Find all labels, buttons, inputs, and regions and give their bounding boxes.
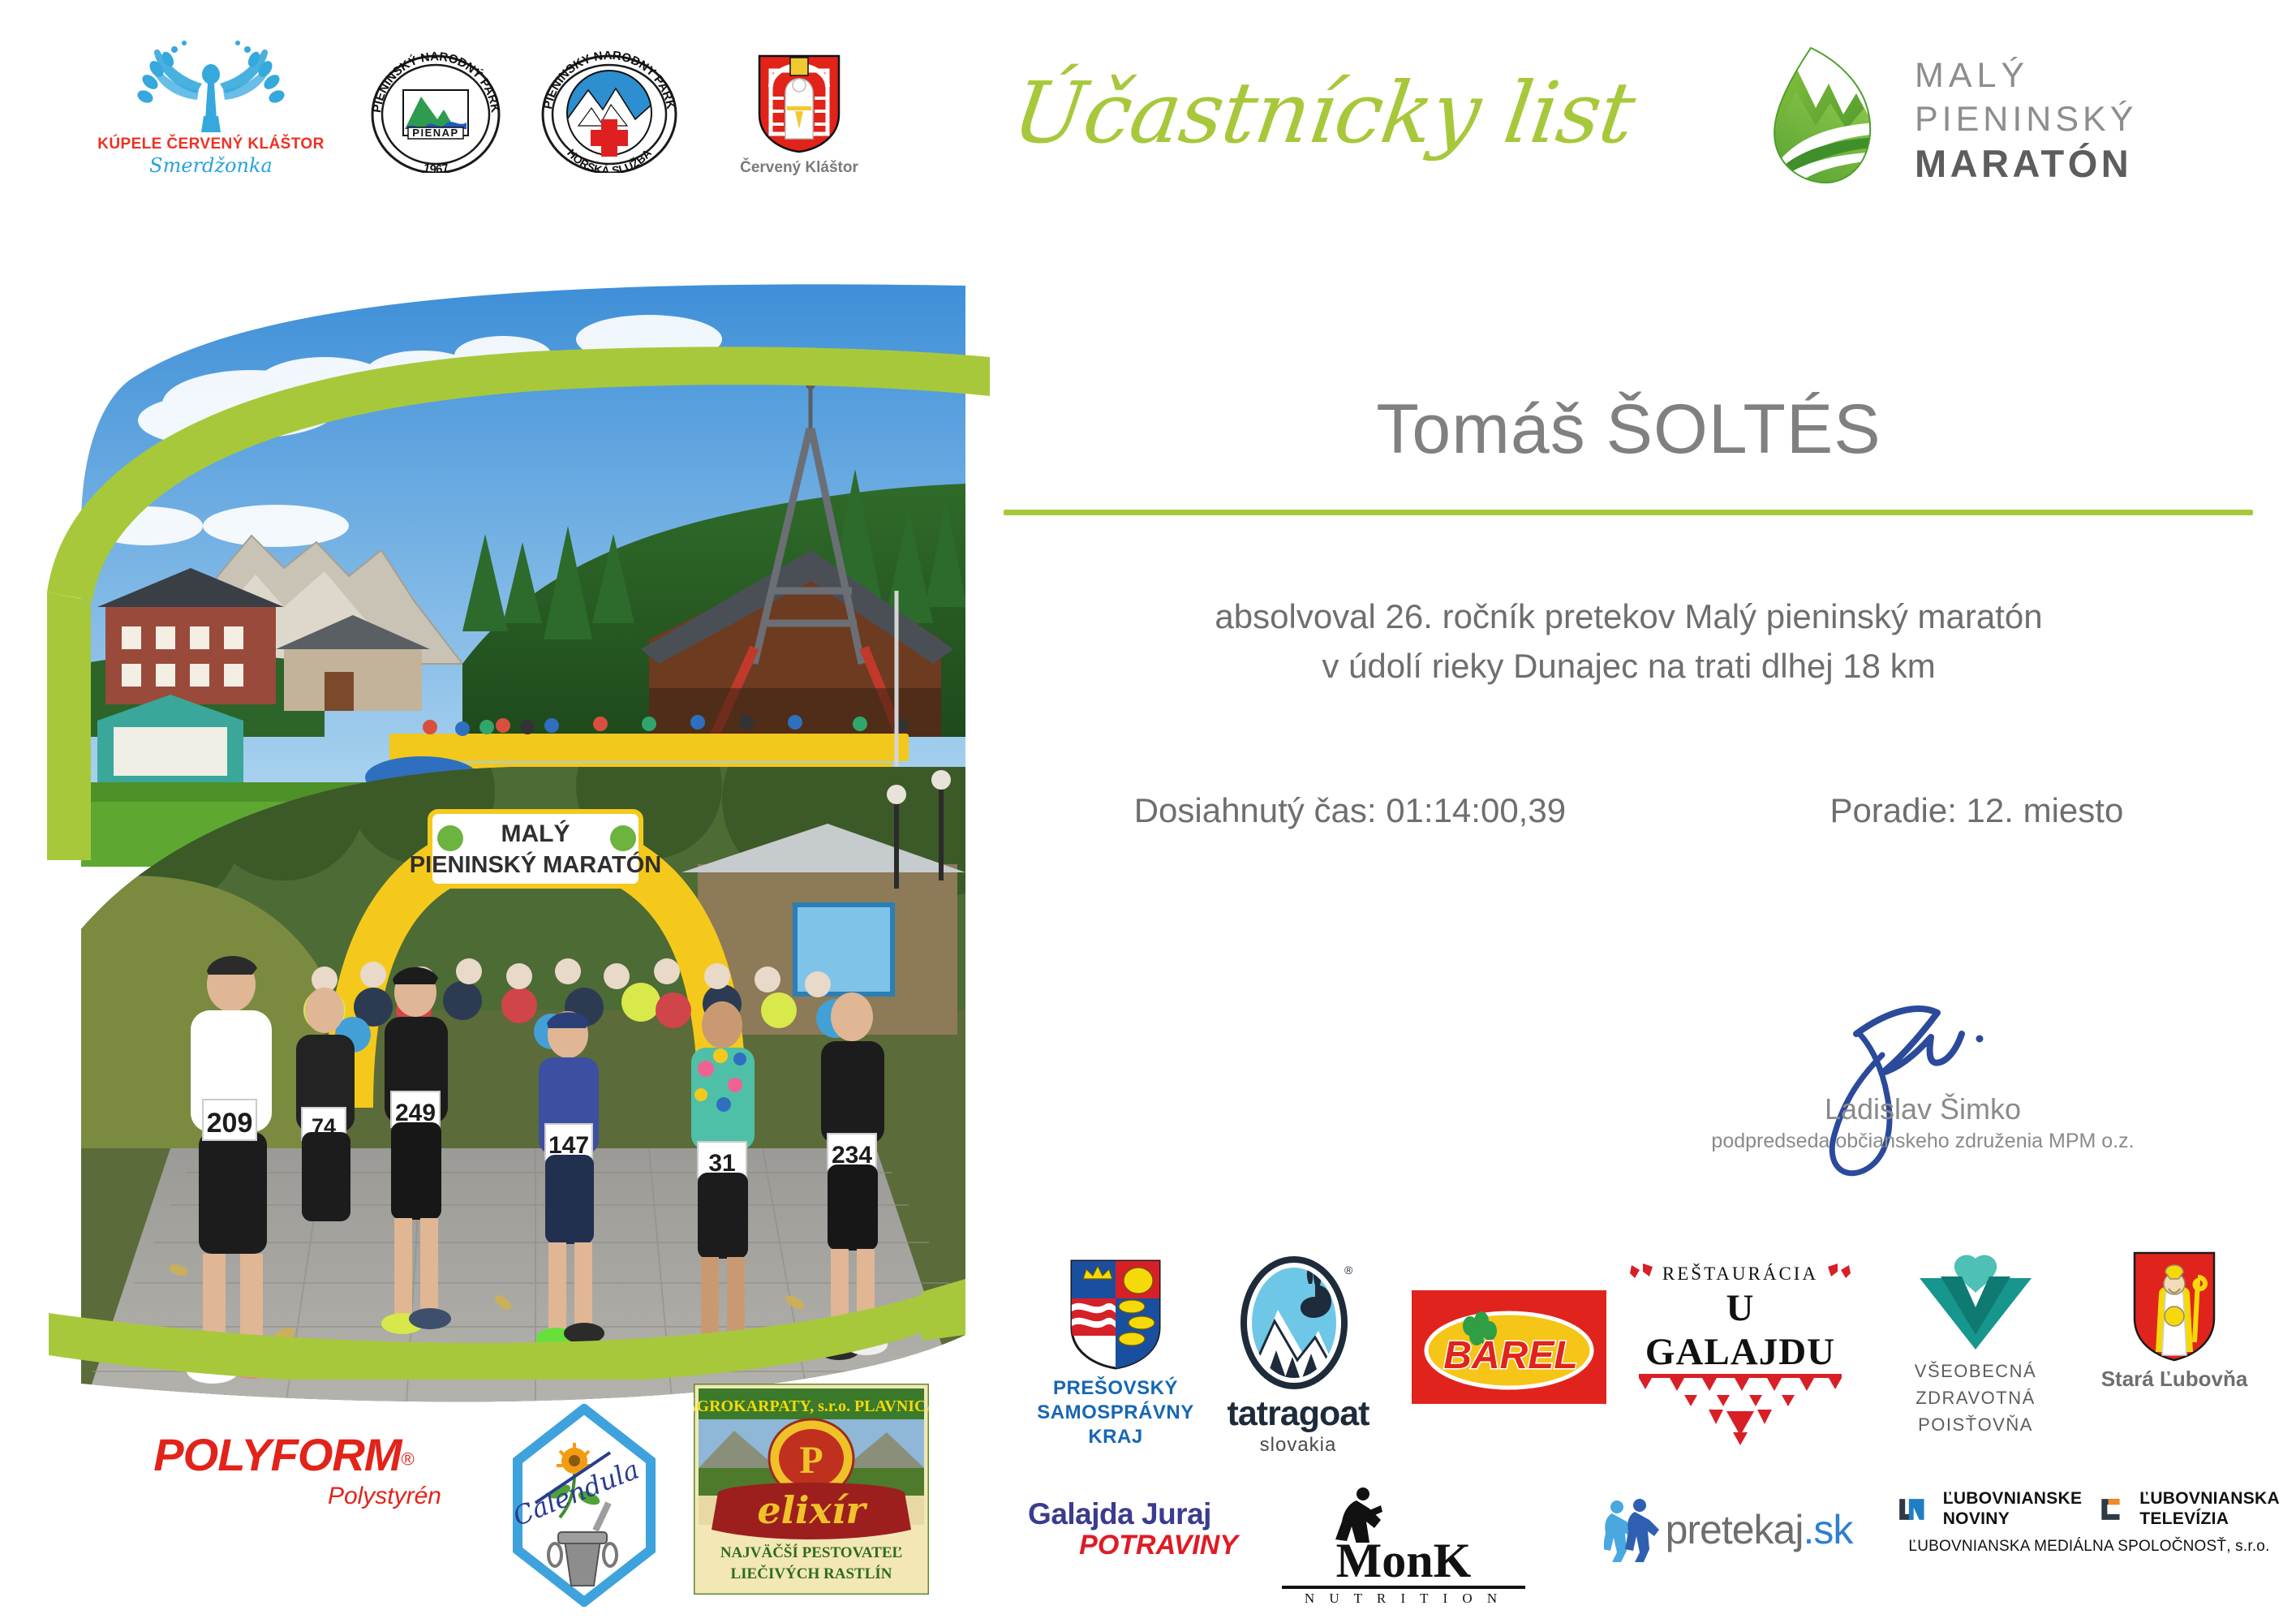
sponsor-tatragoat-sub: slovakia [1209, 1434, 1387, 1457]
sponsor-presovsky-samospravny-kraj: PREŠOVSKÝ SAMOSPRÁVNY KRAJ [1026, 1258, 1205, 1449]
svg-text:1967: 1967 [422, 161, 450, 173]
partner-logos-strip: KÚPELE ČERVENÝ KLÁŠTOR Smerdžonka PIENIN… [49, 37, 982, 187]
event-logo-line3: MARATÓN [1915, 142, 2272, 186]
lms-brand2-line2: TELEVÍZIA [2139, 1509, 2280, 1530]
psk-line3: KRAJ [1026, 1425, 1205, 1449]
sponsor-pretekaj-tld: .sk [1803, 1507, 1852, 1552]
partner-title: KÚPELE ČERVENÝ KLÁŠTOR [93, 136, 329, 153]
svg-text:PIENAP: PIENAP [412, 127, 458, 139]
partner-logo-horska-sluzba: PIENINSKY NÁRODNY PARK HORSKÁ SLUŽBA [531, 51, 690, 173]
certificate-body-line2: v údolí rieky Dunajec na trati dlhej 18 … [1002, 642, 2255, 691]
psk-coat-of-arms-icon [1067, 1258, 1164, 1371]
sponsor-ugalajdu-top: REŠTAURÁCIA [1662, 1264, 1818, 1285]
event-logo-line2: PIENINSKÝ [1915, 98, 2272, 142]
result-rank: Poradie: 12. miesto [1829, 791, 2123, 830]
signature-block: Ladislav Šimko podpredseda občianskeho z… [1639, 998, 2207, 1153]
lt-mark-icon [2100, 1490, 2122, 1529]
sponsor-tatragoat: ® tatragoat slovakia [1209, 1256, 1387, 1457]
sponsor-pretekaj-name: pretekaj [1666, 1507, 1804, 1552]
certificate-body-line1: absolvoval 26. ročník pretekov Malý pien… [1002, 592, 2255, 642]
sponsor-vszp-text: VŠEOBECNÁ ZDRAVOTNÁ POISŤOVŇA [1882, 1358, 2069, 1438]
lms-brand1-line1: ĽUBOVNIANSKE [1943, 1489, 2083, 1509]
handwritten-signature-icon [1639, 998, 2207, 1104]
sponsor-stara-lubovna-caption: Stará Ľubovňa [2093, 1367, 2255, 1392]
running-monk-icon [1329, 1486, 1386, 1543]
sponsor-agrokarpaty-brand: elixír [757, 1488, 868, 1532]
sponsor-stara-lubovna: Stará Ľubovňa [2093, 1250, 2255, 1392]
psk-line2: SAMOSPRÁVNY [1026, 1401, 1205, 1425]
sponsor-u-galajdu: REŠTAURÁCIA U GALAJDU [1627, 1262, 1854, 1447]
signatory-role: podpredseda občianskeho združenia MPM o.… [1639, 1130, 2207, 1153]
signatory-name: Ladislav Šimko [1639, 1092, 2207, 1126]
sponsor-barel-name: BAREL [1443, 1334, 1577, 1377]
barel-logo-icon: BAREL [1412, 1290, 1606, 1404]
sponsor-galajda-line1: Galajda Juraj [998, 1497, 1241, 1531]
sponsor-polyform-name: POLYFORM [153, 1428, 401, 1481]
result-rank-value: 12. miesto [1967, 791, 2124, 829]
partner-subtitle: Smerdžonka [93, 154, 329, 177]
sponsor-tatragoat-name: tatragoat [1209, 1394, 1387, 1434]
tatragoat-chamois-icon: ® [1237, 1256, 1359, 1394]
sponsor-pretekaj-sk: pretekaj.sk [1594, 1497, 1862, 1562]
partner-logo-cerveny-klastor: Červený Kláštor [722, 53, 876, 177]
registered-mark-icon: ® [1344, 1264, 1353, 1276]
green-swoosh-decoration [32, 243, 990, 1380]
psk-line1: PREŠOVSKÝ [1026, 1376, 1205, 1401]
sponsor-galajda-juraj: Galajda Juraj POTRAVINY [998, 1497, 1241, 1561]
pienap-seal-icon: PIENINSKÝ NÁRODNÝ PARK 1967 PIENAP [361, 51, 511, 173]
result-time-value: 01:14:00,39 [1386, 791, 1566, 829]
agrokarpaty-elixir-icon: AGROKARPATY, s.r.o. PLAVNICA P elixír NA… [694, 1384, 929, 1595]
horska-sluzba-seal-icon: PIENINSKY NÁRODNY PARK HORSKÁ SLUŽBA [531, 51, 681, 173]
lms-brand2-line1: ĽUBOVNIANSKA [2139, 1489, 2280, 1509]
svg-text:P: P [799, 1439, 823, 1482]
page-title: Účastnícky list [1007, 63, 1799, 162]
sponsor-agrokarpaty-b1: NAJVÄČŠÍ PESTOVATEĽ [720, 1543, 902, 1561]
vszp-line1: VŠEOBECNÁ [1882, 1358, 2069, 1384]
cerveny-klastor-coat-of-arms-icon [722, 53, 876, 154]
ln-mark-icon [1898, 1490, 1925, 1529]
sponsor-barel: BAREL [1408, 1290, 1610, 1408]
folk-pattern-icon [1631, 1374, 1850, 1447]
sponsor-polyform: POLYFORM® Polystyrén [114, 1428, 454, 1510]
sponsor-monk-nutrition: MonK N U T R I T I O N [1282, 1481, 1525, 1607]
calendula-mortar-icon: Calendula [511, 1404, 657, 1607]
partner-logo-kupele-cerveny-klastor: KÚPELE ČERVENÝ KLÁŠTOR Smerdžonka [93, 37, 329, 177]
partner-caption: Červený Kláštor [722, 159, 876, 177]
angel-fountain-icon [93, 37, 329, 134]
sponsor-calendula: Calendula [503, 1404, 665, 1611]
result-rank-label: Poradie: [1829, 791, 1956, 829]
sponsor-agrokarpaty-top: AGROKARPATY, s.r.o. PLAVNICA [694, 1397, 929, 1415]
sponsor-agrokarpaty-b2: LIEČIVÝCH RASTLÍN [730, 1565, 892, 1582]
photo-collage: MALÝ PIENINSKÝ MARATÓN [32, 243, 990, 1380]
folk-ornament-right-icon [1825, 1262, 1852, 1286]
sponsor-agrokarpaty: AGROKARPATY, s.r.o. PLAVNICA P elixír NA… [694, 1384, 929, 1599]
sponsor-lubovnianska-medialna-spolocnost: ĽUBOVNIANSKE NOVINY ĽUBOVNIANSKA TELEVÍZ… [1898, 1489, 2280, 1556]
sponsor-psk-text: PREŠOVSKÝ SAMOSPRÁVNY KRAJ [1026, 1376, 1205, 1449]
leaf-mountain-icon [1769, 45, 1898, 187]
registered-mark-icon: ® [401, 1449, 414, 1470]
participant-name: Tomáš ŠOLTÉS [1002, 390, 2255, 470]
event-logo: MALÝ PIENINSKÝ MARATÓN [1769, 45, 2272, 187]
vszp-line3: POISŤOVŇA [1882, 1411, 2069, 1438]
event-logo-line1: MALÝ [1915, 54, 2272, 98]
folk-ornament-left-icon [1628, 1262, 1656, 1286]
sponsor-polyform-sub: Polystyrén [114, 1483, 454, 1510]
result-time: Dosiahnutý čas: 01:14:00,39 [1134, 791, 1566, 830]
sponsor-ugalajdu-name: U GALAJDU [1627, 1286, 1854, 1374]
name-divider-rule [1004, 510, 2253, 515]
sponsor-vseobecna-zdravotna-poistovna: VŠEOBECNÁ ZDRAVOTNÁ POISŤOVŇA [1882, 1254, 2069, 1438]
event-logo-wordmark: MALÝ PIENINSKÝ MARATÓN [1915, 54, 2272, 186]
two-runners-icon [1604, 1497, 1661, 1562]
partner-logo-pieninsky-narodny-park: PIENINSKÝ NÁRODNÝ PARK 1967 PIENAP [361, 51, 511, 173]
lms-brand1-line2: NOVINY [1943, 1509, 2083, 1530]
stara-lubovna-coat-of-arms-icon [2130, 1250, 2219, 1363]
result-time-label: Dosiahnutý čas: [1134, 791, 1377, 829]
sponsor-monk-name: MonK [1282, 1538, 1525, 1584]
sponsor-galajda-line2: POTRAVINY [998, 1530, 1241, 1561]
sponsor-monk-sub: N U T R I T I O N [1282, 1591, 1525, 1607]
results-row: Dosiahnutý čas: 01:14:00,39 Poradie: 12.… [1002, 791, 2255, 830]
vszp-line2: ZDRAVOTNÁ [1882, 1384, 2069, 1411]
certificate-body: absolvoval 26. ročník pretekov Malý pien… [1002, 592, 2255, 691]
lms-footer: ĽUBOVNIANSKA MEDIÁLNA SPOLOČNOSŤ, s.r.o. [1898, 1538, 2280, 1556]
vszp-heart-chevron-icon [1915, 1254, 2036, 1351]
